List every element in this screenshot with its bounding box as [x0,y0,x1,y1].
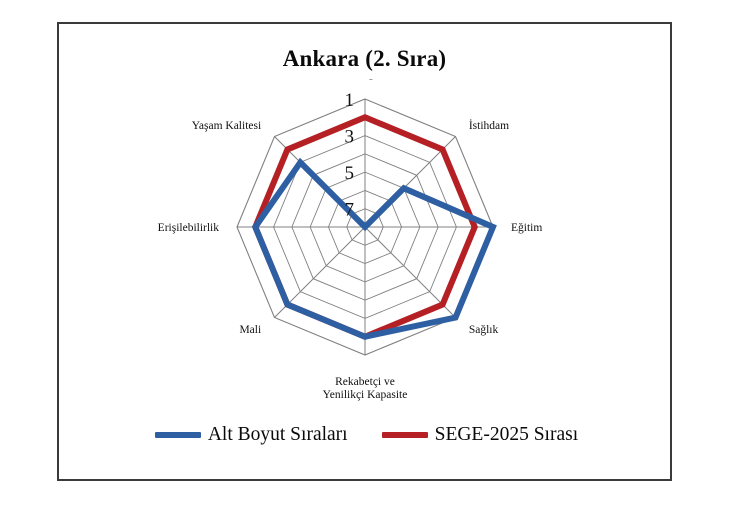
axis-label-3: Sağlık [468,324,498,336]
legend-swatch-blue [155,432,201,438]
radar-chart-svg: 1357 DemografiİstihdamEğitimSağlıkRekabe… [85,79,645,409]
chart-title: Ankara (2. Sıra) [59,46,670,72]
legend-item-alt-boyut[interactable]: Alt Boyut Sıraları [155,424,348,446]
legend-swatch-red [382,432,428,438]
radial-tick-7: 7 [344,200,354,221]
radial-tick-3: 3 [344,127,354,148]
chart-legend: Alt Boyut Sıraları SEGE-2025 Sırası [59,424,674,446]
axis-label-0: Demografi [340,79,390,80]
chart-frame: Ankara (2. Sıra) 1357 DemografiİstihdamE… [57,22,672,481]
legend-label-sege-2025: SEGE-2025 Sırası [435,424,579,446]
radial-tick-1: 1 [344,90,354,111]
radial-tick-labels: 1357 [344,90,354,221]
axis-label-7: Yaşam Kalitesi [191,120,260,132]
legend-label-alt-boyut: Alt Boyut Sıraları [208,424,348,446]
axis-label-4: Rekabetçi veYenilikçi Kapasite [322,376,407,401]
radar-plot-area: 1357 DemografiİstihdamEğitimSağlıkRekabe… [59,79,670,409]
radial-tick-5: 5 [344,163,354,184]
legend-item-sege-2025[interactable]: SEGE-2025 Sırası [382,424,579,446]
axis-label-6: Erişilebilirlik [157,222,219,234]
axis-label-1: İstihdam [468,118,508,132]
axis-label-5: Mali [239,324,261,336]
axis-label-2: Eğitim [511,222,542,234]
